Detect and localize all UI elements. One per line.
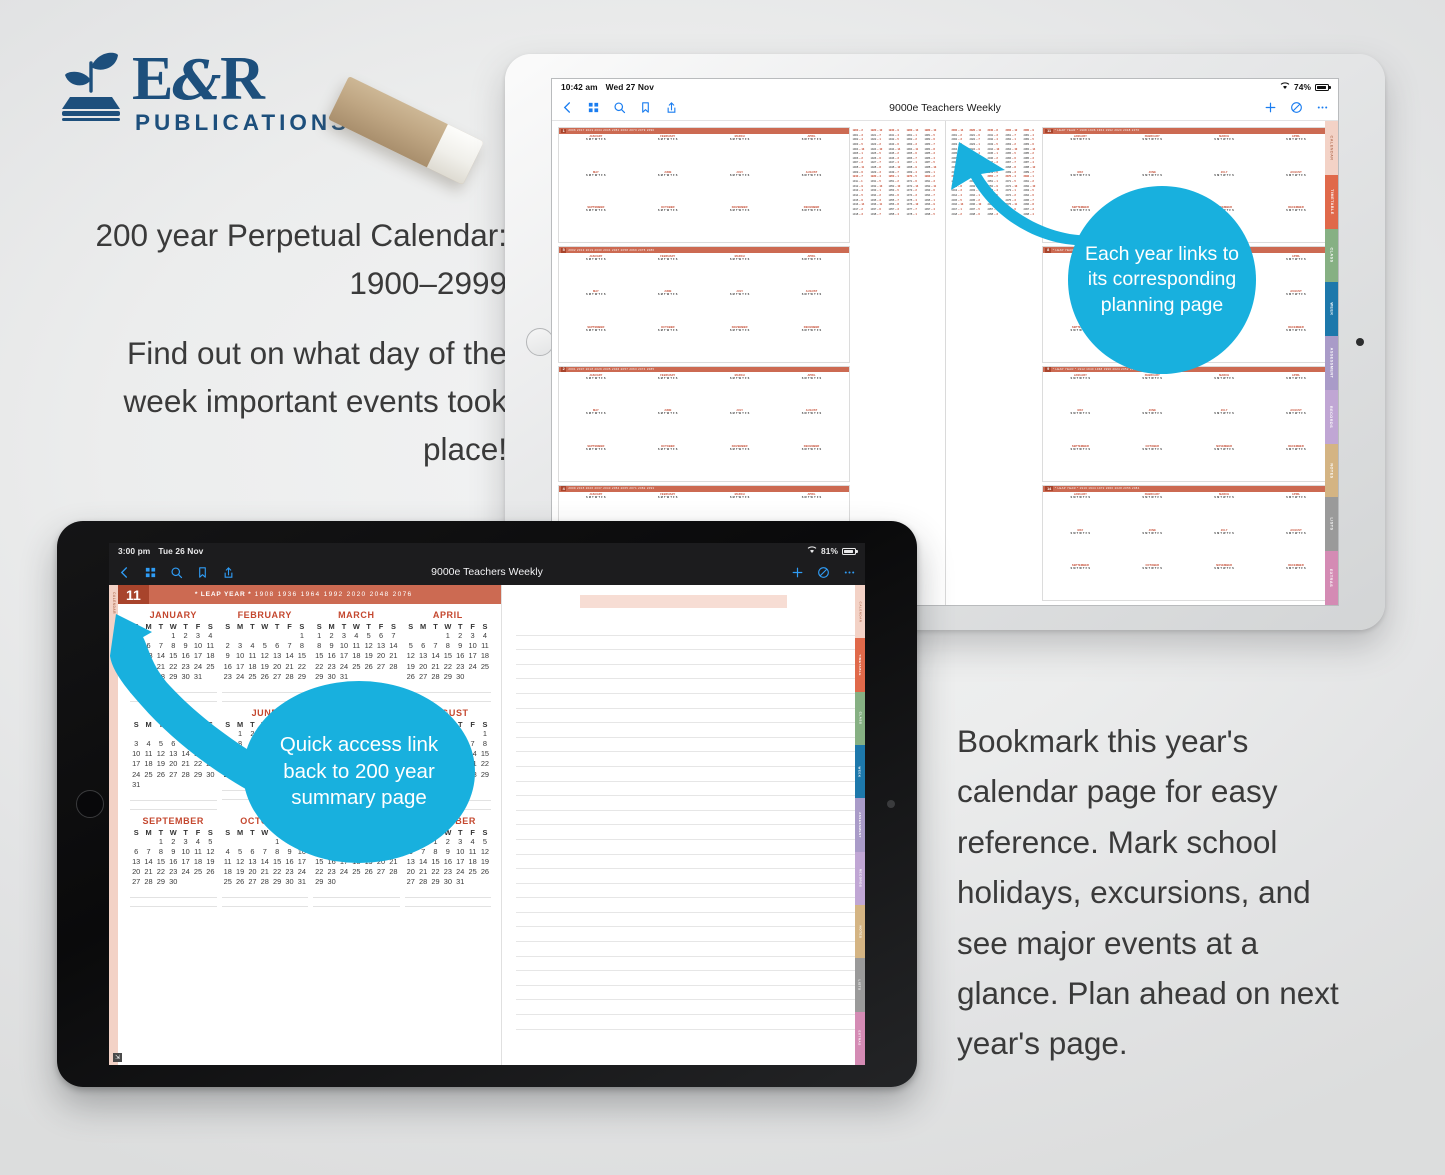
block-index: 1 xyxy=(561,129,566,134)
status-bar-top: 10:42 am Wed 27 Nov 74% xyxy=(552,79,1338,95)
mini-month: AUGUSTS M T W T F S xyxy=(1261,290,1332,324)
block-index: 2 xyxy=(561,367,566,372)
marketing-copy-right: Bookmark this year's calendar page for e… xyxy=(957,716,1357,1069)
mini-month: AUGUSTS M T W T F S xyxy=(776,409,847,443)
year-pattern-block[interactable]: 52002 2013 2019 2030 2041 2047 2058 2069… xyxy=(558,246,850,362)
mini-month: SEPTEMBERS M T W T F S xyxy=(1045,564,1116,598)
grid-thumbnails-icon[interactable] xyxy=(144,566,157,579)
mini-month: MARCHS M T W T F S xyxy=(704,374,775,408)
block-index: 14 xyxy=(1045,486,1052,491)
search-icon[interactable] xyxy=(613,101,626,114)
side-tab-label: RECORDS xyxy=(1330,406,1334,428)
note-line[interactable] xyxy=(516,694,855,709)
note-line[interactable] xyxy=(516,811,855,826)
month-april[interactable]: APRILSMTWTFS1234567891011121314151617181… xyxy=(405,610,492,702)
side-tab-class[interactable]: CLASS xyxy=(1325,229,1338,283)
note-line[interactable] xyxy=(516,767,855,782)
plus-icon[interactable] xyxy=(1264,101,1277,114)
block-months: JANUARYS M T W T F S FEBRUARYS M T W T F… xyxy=(559,372,849,480)
mini-month: MAYS M T W T F S xyxy=(1045,409,1116,443)
mini-month: APRILS M T W T F S xyxy=(1261,493,1332,527)
side-tab-lists[interactable]: LISTS xyxy=(1325,497,1338,551)
mini-month: FEBRUARYS M T W T F S xyxy=(632,255,703,289)
battery-icon xyxy=(842,548,856,555)
grid-thumbnails-icon[interactable] xyxy=(587,101,600,114)
side-tab-notes[interactable]: NOTES xyxy=(855,905,865,958)
home-button-icon[interactable] xyxy=(526,328,554,356)
mini-month: SEPTEMBERS M T W T F S xyxy=(561,206,632,240)
mini-month: NOVEMBERS M T W T F S xyxy=(704,445,775,479)
mini-month: DECEMBERS M T W T F S xyxy=(1261,326,1332,360)
note-line[interactable] xyxy=(516,884,855,899)
mini-month: MAYS M T W T F S xyxy=(561,409,632,443)
weekly-notes-page: CALENDARTIMETABLECLASSWEEKASSESSMENTRECO… xyxy=(502,585,865,1065)
side-tab-extras[interactable]: EXTRAS xyxy=(1325,551,1338,605)
callout-bubble-bottom: Quick access link back to 200 year summa… xyxy=(243,681,475,863)
block-years: 2002 2013 2019 2030 2041 2047 2058 2069 … xyxy=(568,249,654,252)
mini-month: MARCHS M T W T F S xyxy=(704,255,775,289)
back-chevron-icon[interactable] xyxy=(561,101,574,114)
block-months: JANUARYS M T W T F S FEBRUARYS M T W T F… xyxy=(559,253,849,361)
month-note-lines[interactable] xyxy=(130,889,217,907)
status-time: 10:42 am xyxy=(561,82,598,92)
mini-month: SEPTEMBERS M T W T F S xyxy=(561,445,632,479)
mini-month: OCTOBERS M T W T F S xyxy=(1117,564,1188,598)
mini-month: FEBRUARYS M T W T F S xyxy=(632,374,703,408)
side-tab-extras[interactable]: EXTRAS xyxy=(855,1012,865,1065)
side-tab-timetable[interactable]: TIMETABLE xyxy=(1325,175,1338,229)
status-bar-bottom: 3:00 pm Tue 26 Nov 81% xyxy=(109,543,865,559)
mini-month: JANUARYS M T W T F S xyxy=(561,255,632,289)
side-tab-class[interactable]: CLASS xyxy=(855,692,865,745)
mini-month: MARCHS M T W T F S xyxy=(1189,374,1260,408)
mini-month: FEBRUARYS M T W T F S xyxy=(1117,135,1188,169)
note-line[interactable] xyxy=(516,1000,855,1015)
note-line[interactable] xyxy=(516,913,855,928)
block-years: * LEAP YEAR * 1916 1944 1972 2000 2028 2… xyxy=(1055,487,1140,490)
mini-month: OCTOBERS M T W T F S xyxy=(632,445,703,479)
side-tab-assessment[interactable]: ASSESSMENT xyxy=(855,798,865,851)
mini-month: OCTOBERS M T W T F S xyxy=(632,326,703,360)
expand-corner-icon[interactable]: ⇲ xyxy=(113,1053,122,1062)
leap-year-values: 1908 1936 1964 1992 2020 2048 2076 xyxy=(255,591,413,598)
mini-month: APRILS M T W T F S xyxy=(1261,374,1332,408)
block-years: * LEAP YEAR * 1912 1940 1968 1996 2024 2… xyxy=(1053,368,1138,371)
side-tab-label: TIMETABLE xyxy=(1330,189,1334,215)
callout-bubble-top-text: Each year links to its corresponding pla… xyxy=(1068,242,1256,318)
mini-month: AUGUSTS M T W T F S xyxy=(776,290,847,324)
block-years: 2009 2015 2026 2037 2043 2054 2065 2071 … xyxy=(568,487,654,490)
battery-icon xyxy=(1315,84,1329,91)
more-ellipsis-icon[interactable] xyxy=(843,566,856,579)
mini-month: JULYS M T W T F S xyxy=(1189,529,1260,563)
mini-month: DECEMBERS M T W T F S xyxy=(1261,445,1332,479)
note-line[interactable] xyxy=(516,825,855,840)
side-tab-label: CALENDAR xyxy=(1330,135,1334,160)
mini-month: JANUARYS M T W T F S xyxy=(1045,374,1116,408)
block-months: JANUARYS M T W T F S FEBRUARYS M T W T F… xyxy=(1043,492,1333,600)
note-line[interactable] xyxy=(516,898,855,913)
note-line[interactable] xyxy=(516,869,855,884)
note-line[interactable] xyxy=(516,723,855,738)
block-index: 4 xyxy=(561,486,566,491)
status-date: Wed 27 Nov xyxy=(606,82,654,92)
note-line[interactable] xyxy=(516,986,855,1001)
search-icon[interactable] xyxy=(170,566,183,579)
day-grid: 1234567891011121314151617181920212223242… xyxy=(130,837,217,887)
side-tab-label: RECORDS xyxy=(858,869,862,888)
mini-month: NOVEMBERS M T W T F S xyxy=(1189,445,1260,479)
eraser-photo xyxy=(341,62,506,172)
side-tab-label: CLASS xyxy=(858,712,862,725)
side-tab-calendar[interactable]: CALENDAR xyxy=(855,585,865,638)
mini-month: MARCHS M T W T F S xyxy=(1189,135,1260,169)
note-line[interactable] xyxy=(516,650,855,665)
notes-ruled-lines xyxy=(502,621,865,1030)
side-tab-label: LISTS xyxy=(1330,518,1334,531)
brand-logo: E&R PUBLICATIONS xyxy=(58,47,350,136)
mini-month: MARCHS M T W T F S xyxy=(704,135,775,169)
year-index-entry[interactable]: 1918 ... 3 xyxy=(853,213,869,218)
weekday-header: SMTWTFS xyxy=(405,622,492,631)
note-line[interactable] xyxy=(516,796,855,811)
leap-year-list: * LEAP YEAR * 1908 1936 1964 1992 2020 2… xyxy=(195,591,413,598)
month-note-lines[interactable] xyxy=(405,889,492,907)
side-tab-label: WEEK xyxy=(858,766,862,777)
note-line[interactable] xyxy=(516,679,855,694)
app-toolbar-bottom: 9000e Teachers Weekly xyxy=(109,559,865,585)
mini-month: APRILS M T W T F S xyxy=(776,255,847,289)
block-index: 11 xyxy=(1045,129,1052,134)
battery-percent: 74% xyxy=(1294,82,1311,92)
note-line[interactable] xyxy=(516,665,855,680)
mini-month: APRILS M T W T F S xyxy=(776,374,847,408)
note-line[interactable] xyxy=(516,782,855,797)
mini-month: APRILS M T W T F S xyxy=(1261,135,1332,169)
year-pattern-block[interactable]: 22001 2007 2018 2029 2035 2046 2057 2063… xyxy=(558,366,850,482)
side-tab-label: EXTRAS xyxy=(1330,569,1334,587)
mini-month: SEPTEMBERS M T W T F S xyxy=(1045,445,1116,479)
mini-month: JUNES M T W T F S xyxy=(1117,409,1188,443)
camera-icon xyxy=(887,800,895,808)
note-line[interactable] xyxy=(516,942,855,957)
side-tab-lists[interactable]: LISTS xyxy=(855,958,865,1011)
notes-title-field[interactable] xyxy=(580,595,787,608)
year-pattern-block[interactable]: 9* LEAP YEAR * 1912 1940 1968 1996 2024 … xyxy=(1042,366,1334,482)
mini-month: DECEMBERS M T W T F S xyxy=(1261,206,1332,240)
share-icon[interactable] xyxy=(222,566,235,579)
side-tab-records[interactable]: RECORDS xyxy=(1325,390,1338,444)
brand-subtitle: PUBLICATIONS xyxy=(135,110,350,136)
wifi-icon xyxy=(1280,82,1290,92)
marketing-copy-left: 200 year Perpetual Calendar: 1900–2999 F… xyxy=(95,212,507,473)
mini-month: NOVEMBERS M T W T F S xyxy=(704,326,775,360)
year-page-header: 11 * LEAP YEAR * 1908 1936 1964 1992 202… xyxy=(118,585,501,604)
block-index: 9 xyxy=(1045,367,1050,372)
bookmark-icon[interactable] xyxy=(639,101,652,114)
side-tab-assessment[interactable]: ASSESSMENT xyxy=(1325,336,1338,390)
note-line[interactable] xyxy=(516,752,855,767)
mini-month: FEBRUARYS M T W T F S xyxy=(1117,374,1188,408)
subheadline: Find out on what day of the week importa… xyxy=(95,330,507,474)
note-line[interactable] xyxy=(516,957,855,972)
mini-month: AUGUSTS M T W T F S xyxy=(776,171,847,205)
back-chevron-icon[interactable] xyxy=(118,566,131,579)
block-years: 2001 2007 2018 2029 2035 2046 2057 2063 … xyxy=(568,368,654,371)
callout-bubble-bottom-text: Quick access link back to 200 year summa… xyxy=(243,732,475,812)
side-tab-label: ASSESSMENT xyxy=(858,812,862,838)
side-tab-label: CALENDAR xyxy=(858,601,862,622)
mini-month: MAYS M T W T F S xyxy=(1045,529,1116,563)
block-index: 5 xyxy=(561,248,566,253)
mini-month: JUNES M T W T F S xyxy=(632,290,703,324)
mini-month: NOVEMBERS M T W T F S xyxy=(704,206,775,240)
mini-month: JULYS M T W T F S xyxy=(704,290,775,324)
mini-month: JUNES M T W T F S xyxy=(1117,529,1188,563)
side-tab-week[interactable]: WEEK xyxy=(855,745,865,798)
home-button-icon[interactable] xyxy=(76,790,104,818)
note-line[interactable] xyxy=(516,855,855,870)
note-line[interactable] xyxy=(516,636,855,651)
block-years: 2006 2017 2023 2034 2045 2051 2062 2073 … xyxy=(568,129,654,132)
edge-tab-label: CALENDAR xyxy=(112,592,116,614)
mini-month: JANUARYS M T W T F S xyxy=(561,135,632,169)
side-tab-timetable[interactable]: TIMETABLE xyxy=(855,638,865,691)
side-tab-label: WEEK xyxy=(1330,303,1334,316)
side-tab-label: NOTES xyxy=(858,925,862,938)
side-tab-label: EXTRAS xyxy=(858,1031,862,1046)
sprout-in-book-icon xyxy=(58,47,124,127)
status-date: Tue 26 Nov xyxy=(158,546,203,556)
camera-icon xyxy=(1356,338,1364,346)
share-icon[interactable] xyxy=(665,101,678,114)
mini-month: JULYS M T W T F S xyxy=(704,409,775,443)
mini-month: FEBRUARYS M T W T F S xyxy=(632,135,703,169)
leap-year-label: * LEAP YEAR * xyxy=(195,591,252,598)
pen-edit-icon[interactable] xyxy=(1290,101,1303,114)
year-pattern-block[interactable]: 12006 2017 2023 2034 2045 2051 2062 2073… xyxy=(558,127,850,243)
plus-icon[interactable] xyxy=(791,566,804,579)
mini-month: MAYS M T W T F S xyxy=(561,290,632,324)
mini-month: AUGUSTS M T W T F S xyxy=(1261,171,1332,205)
side-tab-label: LISTS xyxy=(858,979,862,990)
more-ellipsis-icon[interactable] xyxy=(1316,101,1329,114)
mini-month: JUNES M T W T F S xyxy=(632,409,703,443)
note-line[interactable] xyxy=(516,621,855,636)
side-tab-week[interactable]: WEEK xyxy=(1325,282,1338,336)
battery-percent: 81% xyxy=(821,546,838,556)
side-tab-label: CLASS xyxy=(1330,248,1334,263)
mini-month: MARCHS M T W T F S xyxy=(1189,493,1260,527)
year-index-column: 1900 ... 21901 ... 31902 ... 41903 ... 5… xyxy=(853,129,869,217)
mini-month: DECEMBERS M T W T F S xyxy=(1261,564,1332,598)
mini-month: AUGUSTS M T W T F S xyxy=(1261,529,1332,563)
note-line[interactable] xyxy=(516,738,855,753)
mini-month: SEPTEMBERS M T W T F S xyxy=(561,326,632,360)
wifi-icon xyxy=(807,546,817,556)
note-line[interactable] xyxy=(516,927,855,942)
callout-arrow-top xyxy=(885,140,1105,250)
block-months: JANUARYS M T W T F S FEBRUARYS M T W T F… xyxy=(1043,372,1333,480)
side-tab-label: NOTES xyxy=(1330,463,1334,478)
brand-name: E&R xyxy=(132,51,350,108)
pen-edit-icon[interactable] xyxy=(817,566,830,579)
mini-month: NOVEMBERS M T W T F S xyxy=(1189,564,1260,598)
headline: 200 year Perpetual Calendar: 1900–2999 xyxy=(95,212,507,308)
mini-month: JUNES M T W T F S xyxy=(632,171,703,205)
mini-month: OCTOBERS M T W T F S xyxy=(632,206,703,240)
block-months: JANUARYS M T W T F S FEBRUARYS M T W T F… xyxy=(559,134,849,242)
mini-month: JANUARYS M T W T F S xyxy=(561,374,632,408)
app-toolbar-top: 9000e Teachers Weekly xyxy=(552,95,1338,121)
mini-month: JULYS M T W T F S xyxy=(1189,409,1260,443)
side-tab-notes[interactable]: NOTES xyxy=(1325,444,1338,498)
note-line[interactable] xyxy=(516,971,855,986)
year-index-badge[interactable]: 11 xyxy=(118,585,149,604)
mini-month: DECEMBERS M T W T F S xyxy=(776,326,847,360)
mini-month: DECEMBERS M T W T F S xyxy=(776,206,847,240)
side-tab-calendar[interactable]: CALENDAR xyxy=(1325,121,1338,175)
bookmark-icon[interactable] xyxy=(196,566,209,579)
mini-month: OCTOBERS M T W T F S xyxy=(1117,445,1188,479)
mini-month: JANUARYS M T W T F S xyxy=(1045,493,1116,527)
status-time: 3:00 pm xyxy=(118,546,150,556)
mini-month: JULYS M T W T F S xyxy=(704,171,775,205)
month-name: APRIL xyxy=(405,610,492,620)
side-tab-strip-top: CALENDARTIMETABLECLASSWEEKASSESSMENTRECO… xyxy=(1325,121,1338,605)
day-grid: 1234567891011121314151617181920212223242… xyxy=(405,631,492,681)
mini-month: APRILS M T W T F S xyxy=(1261,255,1332,289)
month-note-lines[interactable] xyxy=(313,889,400,907)
note-line[interactable] xyxy=(516,840,855,855)
side-tab-strip-bottom: CALENDARTIMETABLECLASSWEEKASSESSMENTRECO… xyxy=(855,585,865,1065)
side-tab-records[interactable]: RECORDS xyxy=(855,852,865,905)
mini-month: FEBRUARYS M T W T F S xyxy=(1117,493,1188,527)
mini-month: DECEMBERS M T W T F S xyxy=(776,445,847,479)
mini-month: MAYS M T W T F S xyxy=(561,171,632,205)
month-note-lines[interactable] xyxy=(222,889,309,907)
note-line[interactable] xyxy=(516,709,855,724)
block-years: * LEAP YEAR * 1908 1936 1964 1992 2020 2… xyxy=(1055,129,1140,132)
mini-month: APRILS M T W T F S xyxy=(776,135,847,169)
note-line[interactable] xyxy=(516,1015,855,1030)
callout-bubble-top: Each year links to its corresponding pla… xyxy=(1068,186,1256,374)
mini-month: AUGUSTS M T W T F S xyxy=(1261,409,1332,443)
year-pattern-block[interactable]: 14* LEAP YEAR * 1916 1944 1972 2000 2028… xyxy=(1042,485,1334,601)
side-tab-label: ASSESSMENT xyxy=(1330,348,1334,379)
side-tab-label: TIMETABLE xyxy=(858,654,862,676)
